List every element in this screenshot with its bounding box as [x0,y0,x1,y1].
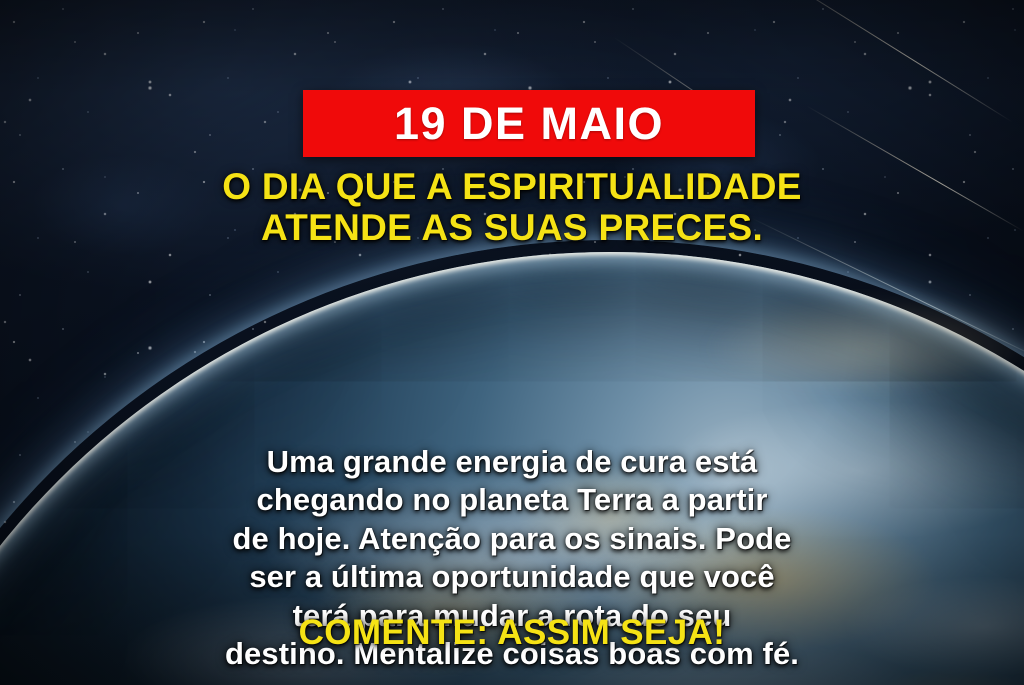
body-line-4: ser a última oportunidade que você [0,558,1024,596]
headline-line-2: ATENDE AS SUAS PRECES. [0,207,1024,248]
poster-content: 19 DE MAIO O DIA QUE A ESPIRITUALIDADE A… [0,0,1024,685]
date-banner-text: 19 DE MAIO [394,101,664,146]
headline-line-1: O DIA QUE A ESPIRITUALIDADE [0,166,1024,207]
body-line-3: de hoje. Atenção para os sinais. Pode [0,520,1024,558]
headline: O DIA QUE A ESPIRITUALIDADE ATENDE AS SU… [0,166,1024,249]
poster-canvas: 19 DE MAIO O DIA QUE A ESPIRITUALIDADE A… [0,0,1024,685]
call-to-action-text: COMENTE: ASSIM SEJA! [0,614,1024,653]
body-line-2: chegando no planeta Terra a partir [0,481,1024,519]
date-banner: 19 DE MAIO [303,90,755,157]
body-line-1: Uma grande energia de cura está [0,443,1024,481]
